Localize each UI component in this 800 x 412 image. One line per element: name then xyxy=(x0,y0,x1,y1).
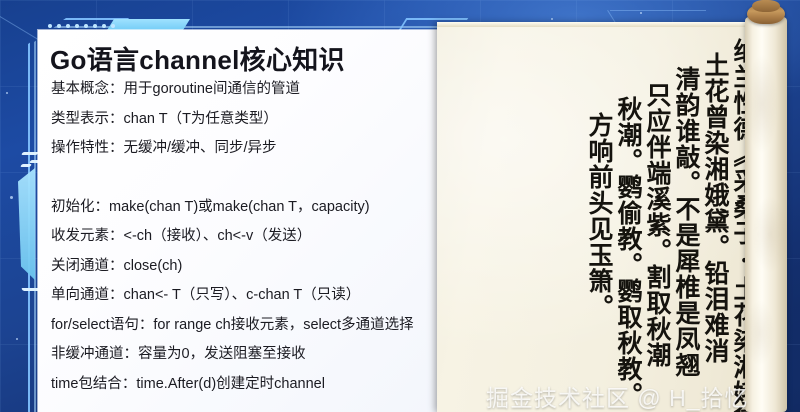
poem-scroll: 纳兰性德《采桑子·土花染湘娥黛 土花曾染湘娥黛。铅泪难消 清韵谁敲。不是犀椎是凤… xyxy=(437,22,772,412)
poem-column: 清韵谁敲。不是犀椎是凤翘 xyxy=(673,66,700,402)
knowledge-line: time包结合：time.After(d)创建定时channel xyxy=(51,377,451,392)
poem-column: 只应伴端溪紫。割取秋潮 xyxy=(644,82,671,402)
poem-column: 方响前头见玉箫。 xyxy=(586,112,613,402)
scroll-top-edge xyxy=(437,22,772,27)
poem-column: 土花曾染湘娥黛。铅泪难消 xyxy=(702,52,729,402)
poem-column: 秋潮。鹦偷教。鹦取秋教。 xyxy=(615,96,642,402)
knowledge-line: 收发元素：<-ch（接收）、ch<-v（发送） xyxy=(51,229,451,244)
background-accent-line xyxy=(610,10,706,11)
knowledge-line: for/select语句：for range ch接收元素，select多通道选… xyxy=(51,318,451,333)
knowledge-line: 关闭通道：close(ch) xyxy=(51,259,451,274)
knowledge-line: 基本概念：用于goroutine间通信的管道 xyxy=(51,82,451,97)
scroll-rod-grain xyxy=(745,17,787,412)
knowledge-line: 单向通道：chan<- T（只写）、c-chan T（只读） xyxy=(51,288,451,303)
screenshot-root: Go语言channel核心知识 基本概念：用于goroutine间通信的管道 类… xyxy=(0,0,800,412)
knowledge-line-list: 基本概念：用于goroutine间通信的管道 类型表示：chan T（T为任意类… xyxy=(51,82,451,406)
hud-left-accent-tab xyxy=(18,168,35,280)
knowledge-line: 操作特性：无缓冲/缓冲、同步/异步 xyxy=(51,141,451,156)
scroll-rod-knob-cap xyxy=(752,0,780,12)
hud-slash-mark xyxy=(21,152,39,155)
knowledge-line: 初始化：make(chan T)或make(chan T，capacity) xyxy=(51,200,451,215)
knowledge-line-spacer xyxy=(51,171,451,185)
poem-columns: 纳兰性德《采桑子·土花染湘娥黛 土花曾染湘娥黛。铅泪难消 清韵谁敲。不是犀椎是凤… xyxy=(437,22,772,412)
scroll-rod xyxy=(745,17,787,412)
page-title: Go语言channel核心知识 xyxy=(50,40,345,77)
knowledge-line: 类型表示：chan T（T为任意类型） xyxy=(51,112,451,127)
knowledge-panel: Go语言channel核心知识 基本概念：用于goroutine间通信的管道 类… xyxy=(38,30,454,412)
knowledge-line: 非缓冲通道：容量为0，发送阻塞至接收 xyxy=(51,347,451,362)
watermark-text: 掘金技术社区 @ H_拾忆 xyxy=(486,379,749,412)
hud-dot-row xyxy=(48,24,115,28)
